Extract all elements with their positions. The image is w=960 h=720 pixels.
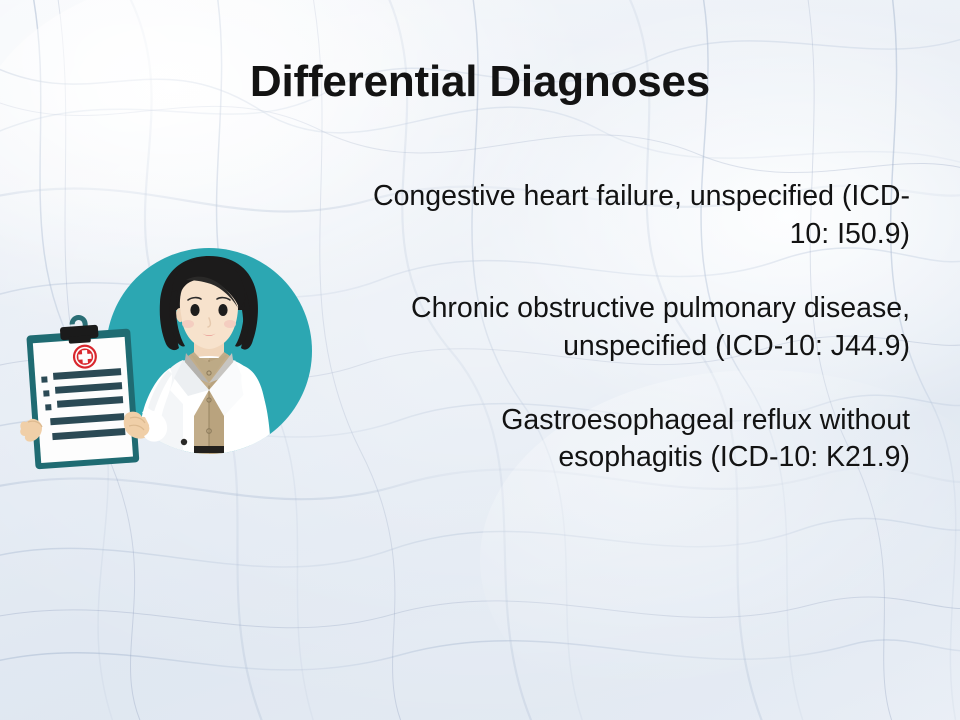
page-title: Differential Diagnoses <box>0 58 960 106</box>
slide-canvas: Differential Diagnoses Congestive heart … <box>0 0 960 720</box>
doctor-figure-graphic <box>18 240 328 502</box>
diagnosis-item-1: Congestive heart failure, unspecified (I… <box>350 178 910 254</box>
diagnosis-item-3: Gastroesophageal reflux without esophagi… <box>350 402 910 478</box>
doctor-illustration <box>18 240 328 502</box>
diagnosis-item-2: Chronic obstructive pulmonary disease, u… <box>350 290 910 366</box>
clipboard-graphic <box>20 311 167 469</box>
differential-diagnosis-list: Congestive heart failure, unspecified (I… <box>350 178 910 477</box>
